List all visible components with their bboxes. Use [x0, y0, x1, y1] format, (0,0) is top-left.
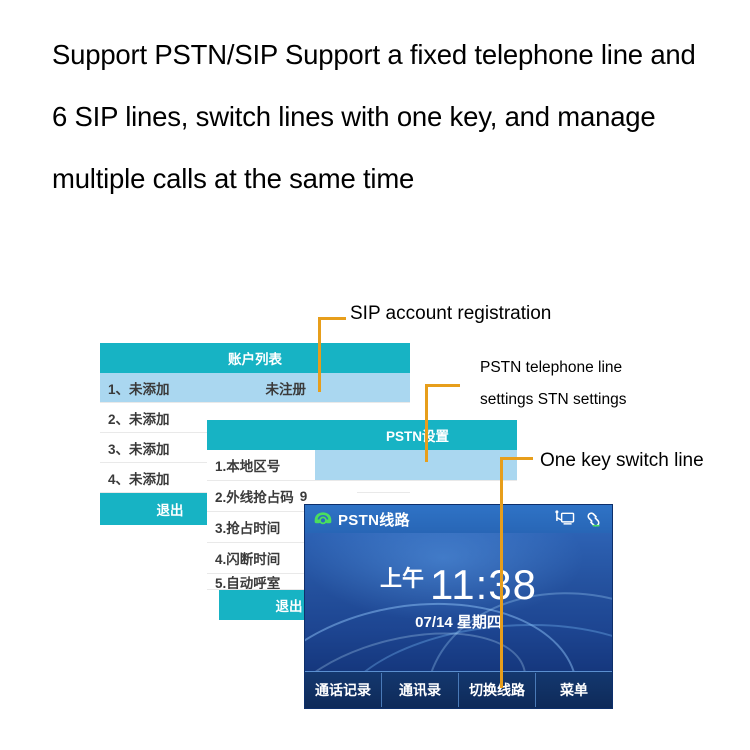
pstn-row-2-value: 9 — [300, 489, 308, 504]
phone-handset-icon — [313, 511, 333, 528]
account-row-2-index: 2、未添加 — [100, 408, 170, 428]
softkey-menu[interactable]: 菜单 — [536, 673, 612, 707]
annotation-pstn-line-1: PSTN telephone line — [480, 359, 622, 377]
monitor-screen-icon — [554, 510, 575, 529]
account-row-1[interactable]: 1、未添加 未注册 — [100, 373, 410, 403]
lcd-softkey-bar: 通话记录 通讯录 切换线路 菜单 — [305, 671, 612, 708]
lcd-line-name: PSTN线路 — [338, 509, 410, 530]
softkey-switch-line[interactable]: 切换线路 — [459, 673, 536, 707]
account-row-1-status: 未注册 — [266, 378, 411, 398]
account-row-3-index: 3、未添加 — [100, 438, 170, 458]
lcd-clock: 上午11:38 — [305, 561, 612, 609]
pstn-row-1-label: 1.本地区号 — [207, 455, 280, 475]
pstn-row-4-label: 4.闪断时间 — [207, 548, 280, 568]
account-row-1-index: 1、未添加 — [100, 378, 170, 398]
annotation-one-key-switch-line: One key switch line — [540, 450, 704, 472]
pstn-row-5[interactable]: 5.自动呼室 — [207, 574, 315, 590]
lcd-clock-ampm: 上午 — [380, 566, 424, 591]
softkey-call-log[interactable]: 通话记录 — [305, 673, 382, 707]
softkey-contacts[interactable]: 通讯录 — [382, 673, 459, 707]
lcd-date: 07/14 星期四 — [305, 611, 612, 632]
pstn-row-4[interactable]: 4.闪断时间 — [207, 543, 315, 574]
pstn-row-2-label: 2.外线抢占码 — [207, 486, 294, 506]
pstn-row-5-label: 5.自动呼室 — [207, 574, 280, 590]
pstn-settings-title: PSTN设置 — [207, 420, 517, 450]
page-headline: Support PSTN/SIP Support a fixed telepho… — [52, 24, 712, 210]
pstn-row-1[interactable]: 1.本地区号 — [207, 450, 517, 481]
lcd-home-body: 上午11:38 07/14 星期四 — [305, 533, 612, 672]
pstn-row-3[interactable]: 3.抢占时间 — [207, 512, 315, 543]
annotation-sip-account-registration: SIP account registration — [350, 303, 551, 325]
account-row-4-index: 4、未添加 — [100, 468, 170, 488]
link-chain-icon — [583, 510, 604, 529]
lcd-status-bar: PSTN线路 — [305, 505, 612, 533]
phone-lcd-screen: PSTN线路 上午11:38 — [305, 505, 612, 708]
lcd-clock-time: 11:38 — [430, 561, 537, 608]
pstn-row-1-highlight — [315, 450, 517, 480]
annotation-pstn-line-2: settings STN settings — [480, 391, 626, 409]
pstn-row-3-label: 3.抢占时间 — [207, 517, 280, 537]
account-list-title: 账户列表 — [100, 343, 410, 373]
